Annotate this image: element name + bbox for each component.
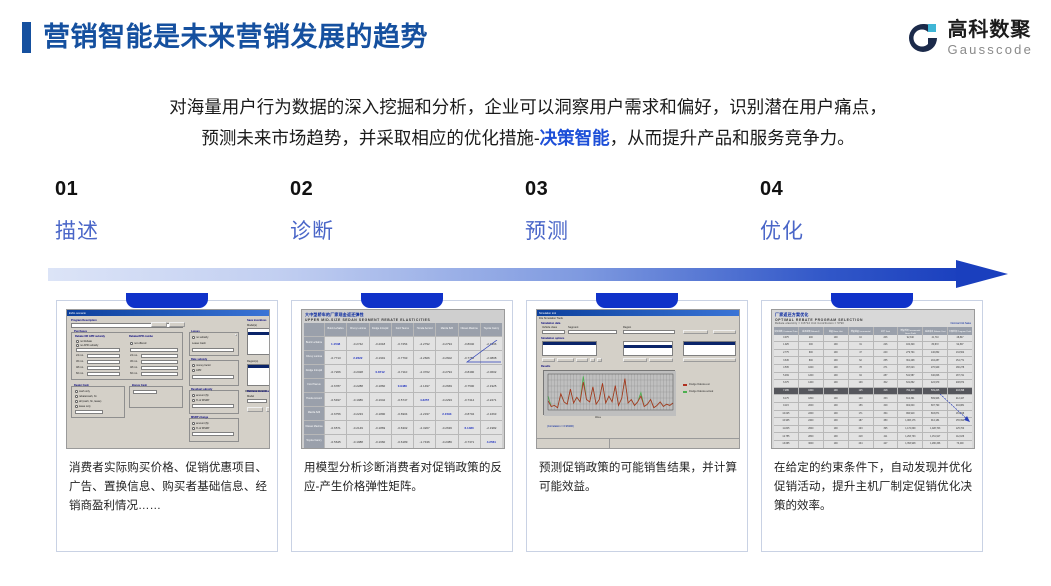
opt-cell: 203 [849, 426, 873, 433]
card-describe[interactable]: EVAL scenario Program Description Purcha… [56, 300, 278, 552]
matrix-cell: -0.6756 [325, 407, 346, 420]
matrix-row-header: Honda Accord [304, 393, 324, 406]
opt-cell: 218 [849, 433, 873, 440]
matrix-cell: 0.9480 [392, 379, 413, 392]
matrix-cell: -2.1982 [481, 421, 502, 434]
step-item-04: 04 优化 [760, 178, 995, 245]
step-item-03: 03 预测 [525, 178, 760, 245]
step-number: 04 [760, 178, 995, 201]
matrix-cell: -2.1925 [481, 379, 502, 392]
opt-cell: 208,872 [948, 380, 972, 387]
opt-cell: 1800 [799, 395, 823, 402]
gausscode-logo-icon [906, 21, 940, 55]
opt-cell: 180,278 [948, 365, 972, 372]
opt-cell: 422,979 [923, 380, 947, 387]
matrix-cell: -0.2293 [436, 393, 457, 406]
opt-cell: 78 [849, 365, 873, 372]
opt-cell: 190 [824, 426, 848, 433]
title-text: 营销智能是未来营销发展的趋势 [43, 22, 428, 53]
matrix-row-header: Dodge Intrepid [304, 365, 324, 378]
opt-cell: 190 [824, 350, 848, 357]
opt-cell: 302 [874, 380, 898, 387]
matrix-cell: -0.7500 [459, 379, 480, 392]
opt-cell: 190 [824, 449, 848, 450]
opt-cell: 600 [799, 350, 823, 357]
matrix-title-cn: 大中型轿车的厂家现金返还弹性 [302, 310, 504, 318]
opt-cell: 2000 [799, 403, 823, 410]
matrix-row-header: Mazda 626 [304, 407, 324, 420]
opt-cell: 6.375 [774, 380, 798, 387]
matrix-cell: 1.1548 [325, 337, 346, 350]
step-label: 描述 [55, 215, 290, 245]
paragraph-line-2-post: ，从而提升产品和服务竞争力。 [610, 128, 855, 148]
step-number: 01 [55, 178, 290, 201]
matrix-cell: -0.2386 [436, 435, 457, 448]
opt-cell: 3200 [799, 449, 823, 450]
opt-cell: 156 [849, 403, 873, 410]
opt-cell: 8.175 [774, 395, 798, 402]
opt-cell: 226 [874, 342, 898, 349]
opt-cell: 2.775 [774, 350, 798, 357]
paragraph-highlight: 决策智能 [540, 128, 610, 148]
opt-cell: 134,502 [948, 350, 972, 357]
opt-cell: 190 [824, 403, 848, 410]
opt-cell: 7.295 [774, 388, 798, 395]
matrix-cell: -0.6189 [392, 435, 413, 448]
opt-cell: 1,353,948 [898, 441, 922, 448]
opt-cell: 2400 [799, 418, 823, 425]
matrix-cell: -0.2233 [347, 407, 368, 420]
opt-cell: 200 [799, 335, 823, 342]
matrix-cell: -0.2742 [347, 337, 368, 350]
step-label: 诊断 [290, 215, 525, 245]
opt-cell: 3000 [799, 441, 823, 448]
step-item-02: 02 诊断 [290, 178, 525, 245]
opt-cell: 190 [824, 342, 848, 349]
opt-cell: 187 [849, 418, 873, 425]
page-title: 营销智能是未来营销发展的趋势 [22, 22, 428, 53]
opt-cell: 190 [824, 373, 848, 380]
matrix-cell: -0.1986 [347, 393, 368, 406]
opt-cell: 10.935 [774, 418, 798, 425]
opt-cell: 1,172,609 [898, 426, 922, 433]
matrix-cell: -0.2288 [347, 379, 368, 392]
matrix-cell: -0.7110 [392, 365, 413, 378]
opt-cell: 2200 [799, 411, 823, 418]
opt-cell: 190 [824, 380, 848, 387]
matrix-cell: -0.2602 [436, 351, 457, 364]
matrix-cell: -0.5497 [325, 393, 346, 406]
paragraph-line-2-pre: 预测未来市场趋势，并采取相应的优化措施- [201, 128, 539, 148]
opt-cell: 190 [824, 388, 848, 395]
step-number: 03 [525, 178, 760, 201]
opt-cell: 271 [874, 365, 898, 372]
opt-cell: 902,640 [898, 403, 922, 410]
opt-cell: 204,287 [923, 357, 947, 364]
opt-cell: 190 [824, 335, 848, 342]
opt-cell: 279,704 [898, 350, 922, 357]
opt-cell: 10.025 [774, 411, 798, 418]
opt-cell: 541,587 [898, 373, 922, 380]
logo-english-name: Gausscode [947, 43, 1033, 56]
card-tab [596, 293, 678, 308]
matrix-cell: 4.3257 [414, 393, 435, 406]
opt-cell: 62 [849, 357, 873, 364]
opt-cell: 14.575 [774, 449, 798, 450]
opt-cell: 13.665 [774, 441, 798, 448]
opt-cell: 364 [874, 411, 898, 418]
opt-cell: 154,771 [948, 357, 972, 364]
opt-cell: 2600 [799, 426, 823, 433]
matrix-cell: -2.2606 [414, 351, 435, 364]
progress-arrow [48, 261, 1008, 291]
opt-cell: 190 [824, 433, 848, 440]
opt-cell: 240 [874, 350, 898, 357]
logo-chinese-name: 高科数聚 [947, 20, 1033, 40]
matrix-corner [304, 323, 324, 336]
card-diagnose[interactable]: 大中型轿车的厂家现金返还弹性 UPPER MID-SIZE SEDAN SEGM… [291, 300, 513, 552]
matrix-cell: -0.1988 [347, 435, 368, 448]
opt-cell: 1,419,754 [923, 449, 947, 450]
title-accent-bar [22, 22, 31, 53]
opt-title-cn: 厂家返还方案优化 [772, 310, 974, 318]
opt-cell: 270,949 [923, 365, 947, 372]
matrix-cell: -0.5747 [392, 393, 413, 406]
opt-cell: 442 [874, 449, 898, 450]
opt-cell: 1,880,292 [898, 449, 922, 450]
card-tab [361, 293, 443, 308]
opt-cell: 11.845 [774, 426, 798, 433]
matrix-col-header: Nissan Maxima [459, 323, 480, 336]
matrix-col-header: Buick LeSabre [325, 323, 346, 336]
opt-cell: 318 [874, 388, 898, 395]
opt-cell: 140 [849, 395, 873, 402]
card-screenshot-simulation-window: Simulation tool File Simulation Tools Si… [536, 309, 740, 449]
opt-cell: 249 [849, 449, 873, 450]
opt-cell: 1,263,733 [898, 433, 922, 440]
optimization-table-grid: 实际销售 Customer Price返还金额 Rebate $销量 Base … [774, 327, 972, 449]
step-item-01: 01 描述 [55, 178, 290, 245]
opt-cell: 190 [824, 411, 848, 418]
matrix-col-header: Toyota Camry [481, 323, 502, 336]
opt-cell: -38,448 [948, 449, 972, 450]
matrix-cell: 2.2622 [347, 351, 368, 364]
matrix-cell: -2.3702 [414, 365, 435, 378]
opt-cell: 125,700 [948, 426, 972, 433]
matrix-cell: -0.2149 [347, 421, 368, 434]
opt-cell: 190 [824, 441, 848, 448]
opt-cell: 702,110 [898, 388, 922, 395]
matrix-cell: -0.6904 [392, 407, 413, 420]
opt-cell: 16 [849, 335, 873, 342]
slide: 营销智能是未来营销发展的趋势 高科数聚 Gausscode 对海量用户行为数据的… [0, 0, 1051, 586]
opt-cell: 12.755 [774, 433, 798, 440]
opt-cell: 349 [874, 403, 898, 410]
opt-cell: 190 [824, 357, 848, 364]
opt-cell: 92,807 [948, 342, 972, 349]
card-caption: 在给定的约束条件下，自动发现并优化促销活动，提升主机厂制定促销优化决策的效率。 [774, 459, 972, 516]
matrix-cell: -0.7314 [459, 393, 480, 406]
opt-cell: 47 [849, 350, 873, 357]
opt-cell: 109 [849, 380, 873, 387]
opt-cell: 800 [799, 357, 823, 364]
opt-cell: 73,400 [948, 441, 972, 448]
chart-footnote: (Correlation = 0.96390) [547, 425, 574, 428]
matrix-cell: -0.2794 [436, 365, 457, 378]
card-screenshot-optimization-table: 厂家返还方案优化 OPTIMAL REBATE PROGRAM SELECTIO… [771, 309, 975, 449]
chart-legend-0: Dodge Dakota est [689, 383, 710, 386]
matrix-cell: -2.1497 [414, 379, 435, 392]
opt-cell: 1,028,703 [923, 426, 947, 433]
card-predict[interactable]: Simulation tool File Simulation Tools Si… [526, 300, 748, 552]
matrix-cell: -2.2271 [481, 393, 502, 406]
matrix-cell: -0.7206 [325, 365, 346, 378]
card-list: EVAL scenario Program Description Purcha… [56, 300, 996, 552]
matrix-cell: -0.2636 [436, 421, 457, 434]
paragraph-line-1: 对海量用户行为数据的深入挖掘和分析，企业可以洞察用户需求和偏好，识别潜在用户痛点… [48, 92, 1008, 123]
matrix-row-header: Chevy Lumina [304, 351, 324, 364]
arrow-shaft [48, 268, 964, 281]
opt-cell: 206 [874, 335, 898, 342]
matrix-cell: -0.6302 [392, 421, 413, 434]
opt-cell: 190 [824, 395, 848, 402]
matrix-cell: -2.1663 [481, 407, 502, 420]
opt-cell: 94 [849, 373, 873, 380]
opt-cell: 1,280,336 [923, 441, 947, 448]
matrix-col-header: Chevy Lumina [347, 323, 368, 336]
matrix-cell: 2.1593 [436, 407, 457, 420]
opt-cell: 1,151,917 [923, 433, 947, 440]
matrix-cell: -0.1660 [370, 435, 391, 448]
matrix-cell: -2.2792 [414, 337, 435, 350]
opt-cell: 380 [874, 418, 898, 425]
opt-cell: 361,208 [898, 357, 922, 364]
opt-cell: 457,023 [898, 365, 922, 372]
matrix-cell: -0.7371 [459, 435, 480, 448]
opt-cell: 4.535 [774, 365, 798, 372]
matrix-cell: 4.2561 [481, 435, 502, 448]
opt-cell: 140,862 [923, 350, 947, 357]
opt-cell: 187,741 [948, 373, 972, 380]
opt-cell: 340,846 [923, 373, 947, 380]
step-label: 优化 [760, 215, 995, 245]
matrix-cell: -0.7713 [325, 351, 346, 364]
intro-paragraph: 对海量用户行为数据的深入挖掘和分析，企业可以洞察用户需求和偏好，识别潜在用户痛点… [48, 92, 1008, 154]
step-number: 02 [290, 178, 525, 201]
matrix-cell: -0.1890 [370, 407, 391, 420]
brand-logo: 高科数聚 Gausscode [906, 20, 1033, 56]
card-caption: 用模型分析诊断消费者对促销政策的反应-产生价格弹性矩阵。 [304, 459, 502, 497]
matrix-cell: 6.1480 [459, 421, 480, 434]
opt-cell: 255 [874, 357, 898, 364]
matrix-row-header: Nissan Maxima [304, 421, 324, 434]
matrix-col-header: Ford Taurus [392, 323, 413, 336]
matrix-cell: -0.7254 [392, 337, 413, 350]
opt-corner-note: Nominal Unit Sales [951, 322, 971, 325]
opt-cell: 89,672 [923, 342, 947, 349]
card-screenshot-elasticity-matrix: 大中型轿车的厂家现金返还弹性 UPPER MID-SIZE SEDAN SEGM… [301, 309, 505, 449]
opt-cell: 190 [824, 418, 848, 425]
matrix-cell: -0.2018 [370, 337, 391, 350]
opt-cell: 1600 [799, 388, 823, 395]
opt-cell: 125 [849, 388, 873, 395]
opt-cell: 41,710 [923, 335, 947, 342]
matrix-col-header: Mazda 626 [436, 323, 457, 336]
card-tab [126, 293, 208, 308]
opt-cell: 333 [874, 395, 898, 402]
opt-cell: 1400 [799, 380, 823, 387]
matrix-title-en: UPPER MID-SIZE SEDAN SEGMENT REBATE ELAS… [302, 318, 504, 322]
card-optimize[interactable]: 厂家返还方案优化 OPTIMAL REBATE PROGRAM SELECTIO… [761, 300, 983, 552]
matrix-cell: -0.5645 [325, 435, 346, 448]
opt-cell: 0.975 [774, 335, 798, 342]
opt-cell: 5.469 [774, 373, 798, 380]
opt-cell: 92,340 [898, 335, 922, 342]
matrix-cell: -0.8704 [459, 407, 480, 420]
arrow-head-icon [956, 260, 1008, 288]
chart-legend-1: Dodge Dakota actual [689, 390, 713, 393]
matrix-cell: -0.1869 [370, 421, 391, 434]
matrix-col-header: Honda Accord [414, 323, 435, 336]
opt-cell: 1,083,176 [898, 418, 922, 425]
opt-cell: 1000 [799, 365, 823, 372]
matrix-cell: -0.2794 [436, 337, 457, 350]
opt-cell: 427 [874, 441, 898, 448]
card-caption: 消费者实际购买价格、促销优惠项目、广告、置换信息、购买者基础信息、经销商盈利情况… [69, 459, 267, 516]
opt-cell: 1200 [799, 373, 823, 380]
opt-cell: 171 [849, 411, 873, 418]
card-caption: 预测促销政策的可能销售结果，并计算可能效益。 [539, 459, 737, 497]
matrix-cell: -0.2028 [347, 365, 368, 378]
opt-cell: 112,186 [948, 433, 972, 440]
opt-cell: 2800 [799, 433, 823, 440]
matrix-row-header: Buick LeSabre [304, 337, 324, 350]
matrix-cell: -0.6571 [325, 421, 346, 434]
opt-cell: 411 [874, 433, 898, 440]
opt-cell: 287 [874, 373, 898, 380]
opt-cell: 3.645 [774, 357, 798, 364]
matrix-row-header: Toyota Camry [304, 435, 324, 448]
opt-cell: 631,862 [898, 380, 922, 387]
opt-cell: 184,329 [898, 342, 922, 349]
paragraph-line-2: 预测未来市场趋势，并采取相应的优化措施-决策智能，从而提升产品和服务竞争力。 [48, 123, 1008, 154]
matrix-cell: 0.8712 [370, 365, 391, 378]
opt-subtitle: Rebate elasticity = 0.8712 Unit Contribu… [772, 322, 974, 326]
matrix-cell: -0.1991 [370, 351, 391, 364]
matrix-cell: -2.2337 [414, 407, 435, 420]
matrix-cell: -1.7436 [414, 435, 435, 448]
opt-cell: 9.115 [774, 403, 798, 410]
opt-cell: 812,301 [898, 395, 922, 402]
opt-cell: 234 [849, 441, 873, 448]
opt-cell: 31 [849, 342, 873, 349]
opt-cell: 395 [874, 426, 898, 433]
card-tab [831, 293, 913, 308]
opt-cell: 400 [799, 342, 823, 349]
matrix-cell: -0.6787 [325, 379, 346, 392]
opt-cell: 48,847 [948, 335, 972, 342]
matrix-row-header: Ford Taurus [304, 379, 324, 392]
card-screenshot-form-dialog: EVAL scenario Program Description Purcha… [66, 309, 270, 449]
matrix-cell: -2.3207 [414, 421, 435, 434]
opt-cell: 1.925 [774, 342, 798, 349]
matrix-cell: -0.1860 [370, 379, 391, 392]
matrix-cell: -0.2669 [436, 379, 457, 392]
opt-cell: 190 [824, 365, 848, 372]
matrix-col-header: Dodge Intrepid [370, 323, 391, 336]
matrix-cell: -0.7793 [392, 351, 413, 364]
step-label: 预测 [525, 215, 760, 245]
opt-cell: 990,919 [898, 411, 922, 418]
step-list: 01 描述 02 诊断 03 预测 04 优化 [55, 178, 995, 245]
matrix-cell: -0.1642 [370, 393, 391, 406]
